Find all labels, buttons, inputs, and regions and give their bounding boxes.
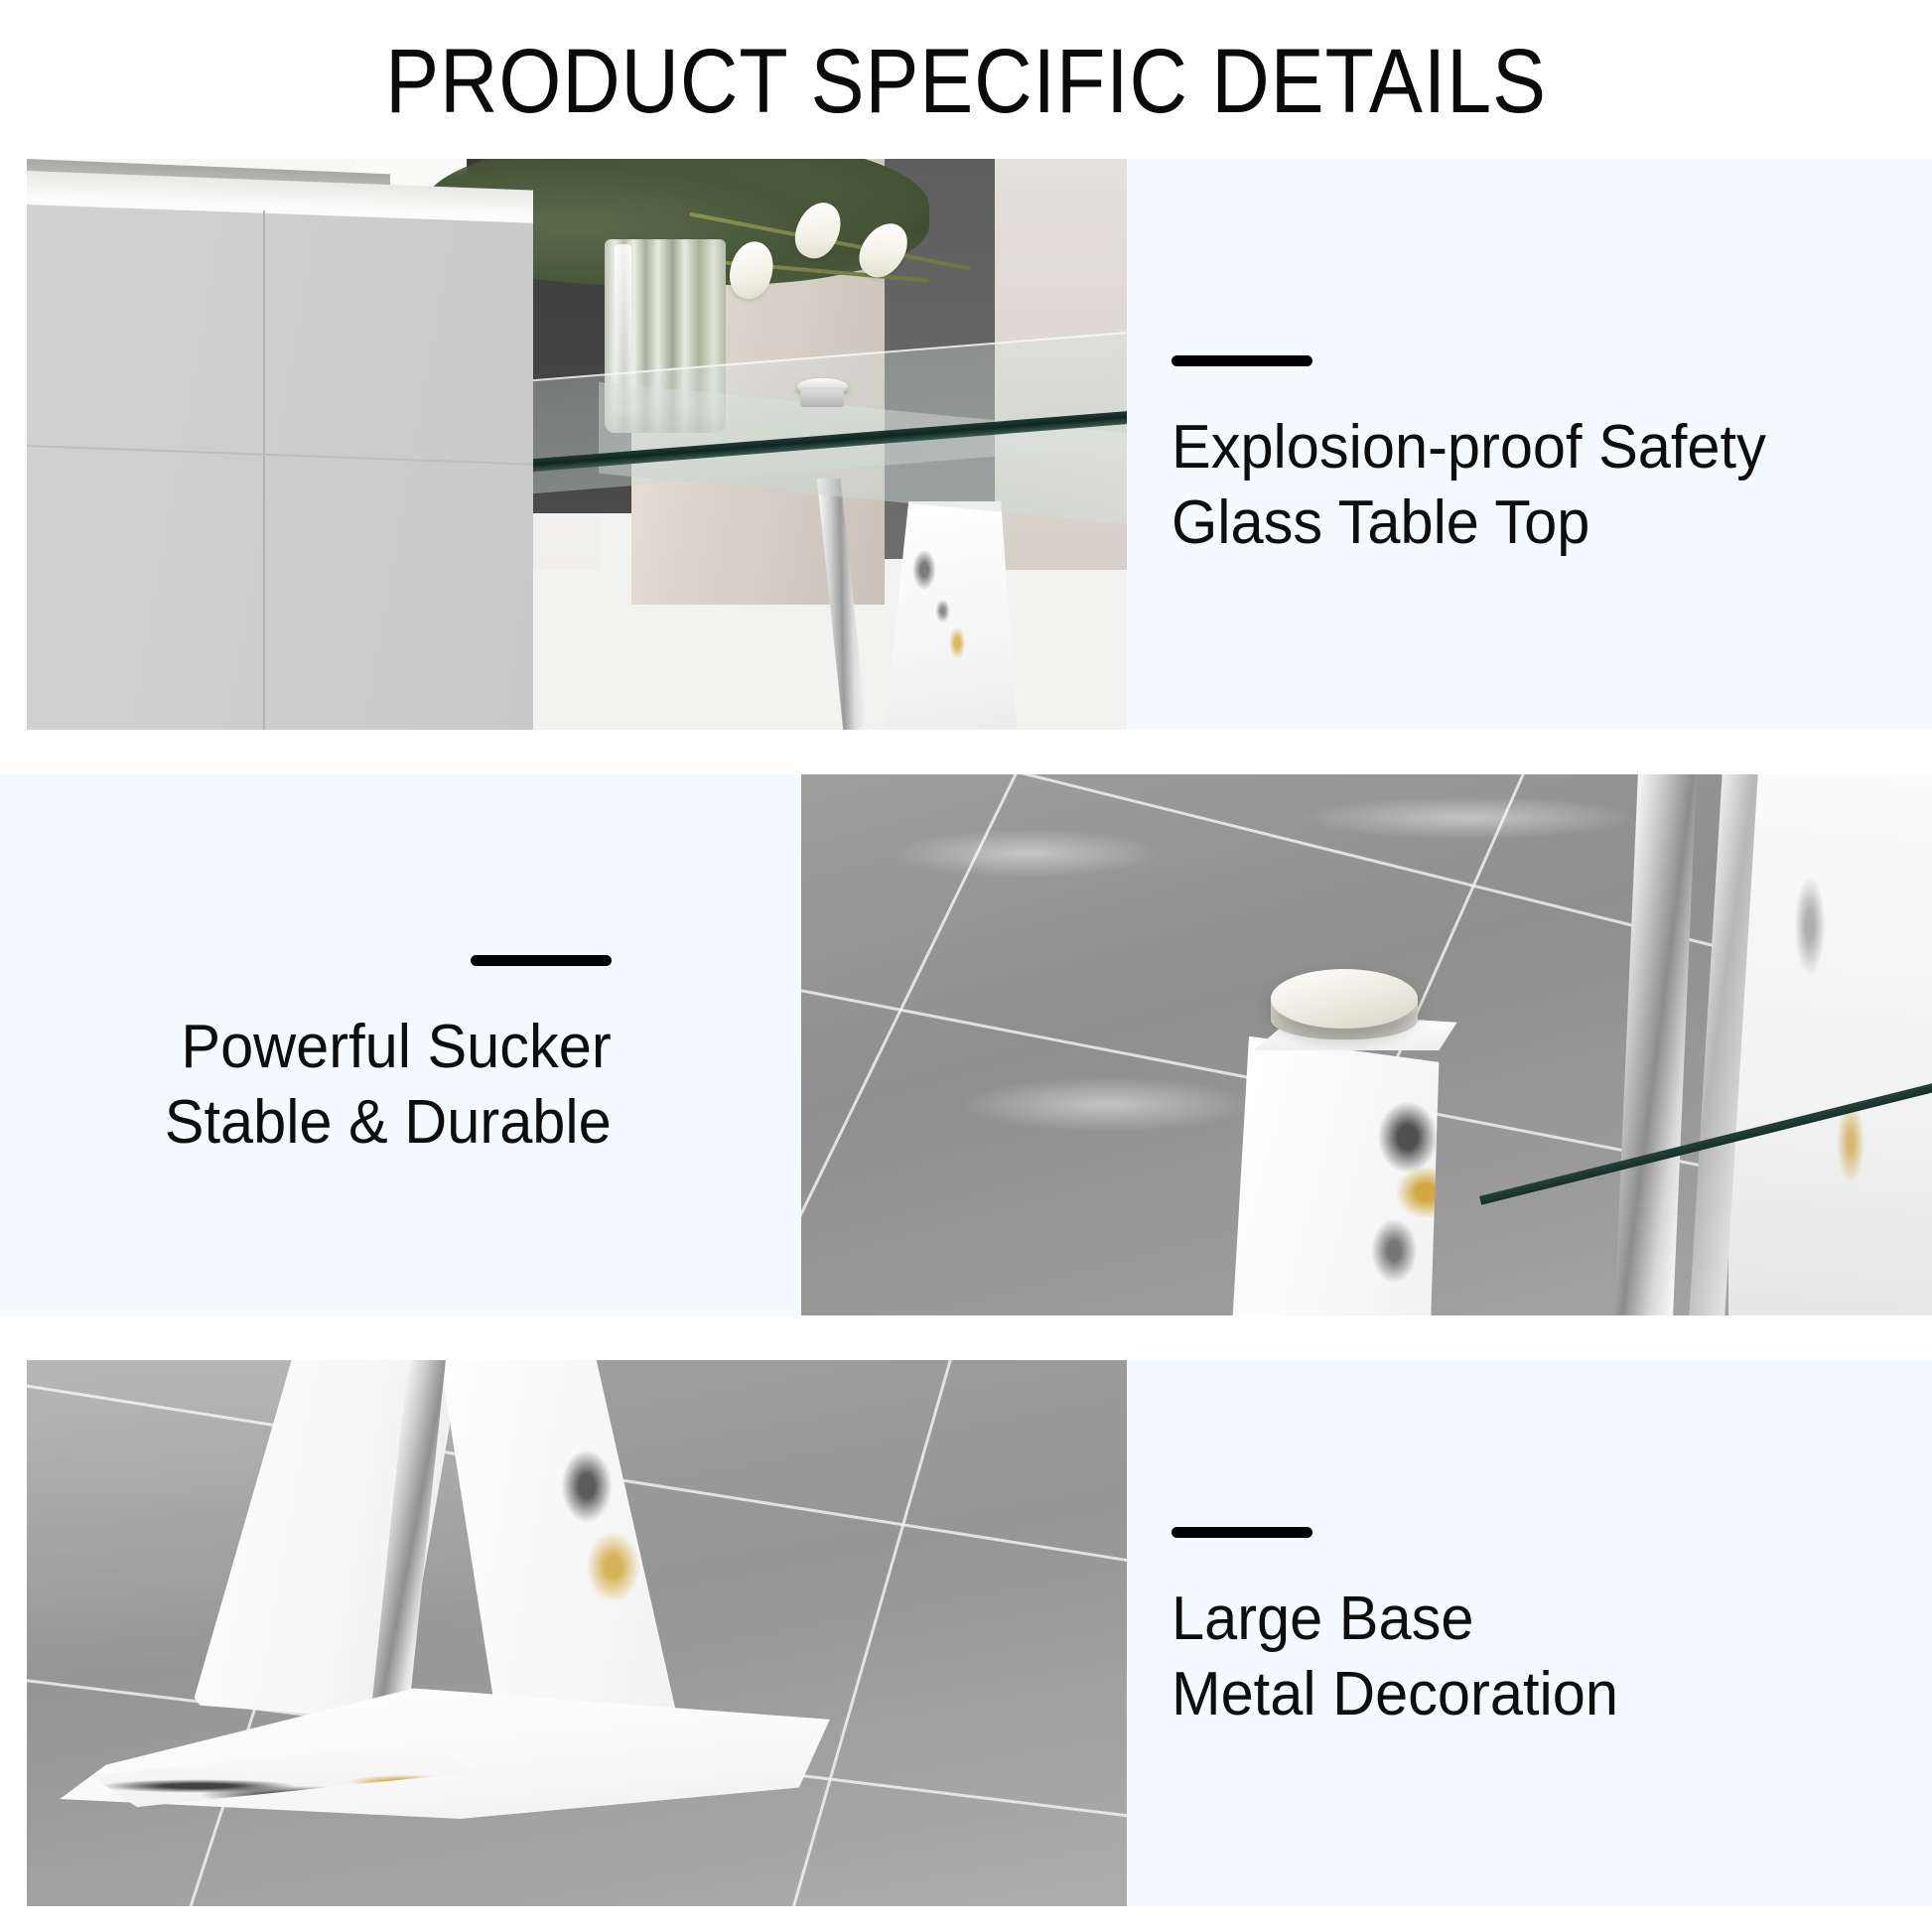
feature-caption-large-base: Large Base Metal Decoration: [1172, 1527, 1637, 1732]
feature-line-1: Large Base: [1172, 1582, 1618, 1657]
photo-marble-vein: [892, 829, 1163, 878]
page-title: PRODUCT SPECIFIC DETAILS: [116, 34, 1816, 129]
photo-cabinet: [27, 205, 533, 730]
photo-sucker-body: [800, 389, 844, 407]
accent-rule-icon: [1172, 355, 1312, 366]
photo-sucker-disc: [1271, 969, 1418, 1029]
accent-rule-icon: [471, 955, 612, 966]
feature-line-2: Glass Table Top: [1172, 485, 1766, 561]
feature-line-1: Powerful Sucker: [165, 1010, 612, 1085]
feature-row-sucker: Powerful Sucker Stable & Durable: [0, 774, 1932, 1315]
feature-line-2: Stable & Durable: [165, 1085, 612, 1161]
photo-marble-panel: [1728, 774, 1932, 1315]
feature-line-1: Explosion-proof Safety: [1172, 410, 1766, 485]
feature-caption-glass-top: Explosion-proof Safety Glass Table Top: [1172, 355, 1791, 561]
photo-table-leg: [423, 1360, 687, 1721]
photo-pillar: [1231, 1024, 1457, 1315]
photo-tile-grout: [765, 1360, 964, 1906]
accent-rule-icon: [1172, 1527, 1312, 1538]
photo-marble-vein: [959, 1077, 1253, 1132]
product-photo-glass-top: [27, 159, 1127, 730]
photo-marble-vein: [1299, 796, 1638, 840]
photo-chrome-post: [1615, 774, 1698, 1315]
feature-row-glass-top: Explosion-proof Safety Glass Table Top: [0, 159, 1932, 730]
photo-cabinet-seam: [263, 210, 265, 730]
feature-line-2: Metal Decoration: [1172, 1657, 1618, 1732]
product-photo-sucker: [801, 774, 1932, 1315]
feature-caption-sucker: Powerful Sucker Stable & Durable: [146, 955, 612, 1161]
feature-row-large-base: Large Base Metal Decoration: [0, 1360, 1932, 1906]
product-photo-large-base: [27, 1360, 1127, 1906]
